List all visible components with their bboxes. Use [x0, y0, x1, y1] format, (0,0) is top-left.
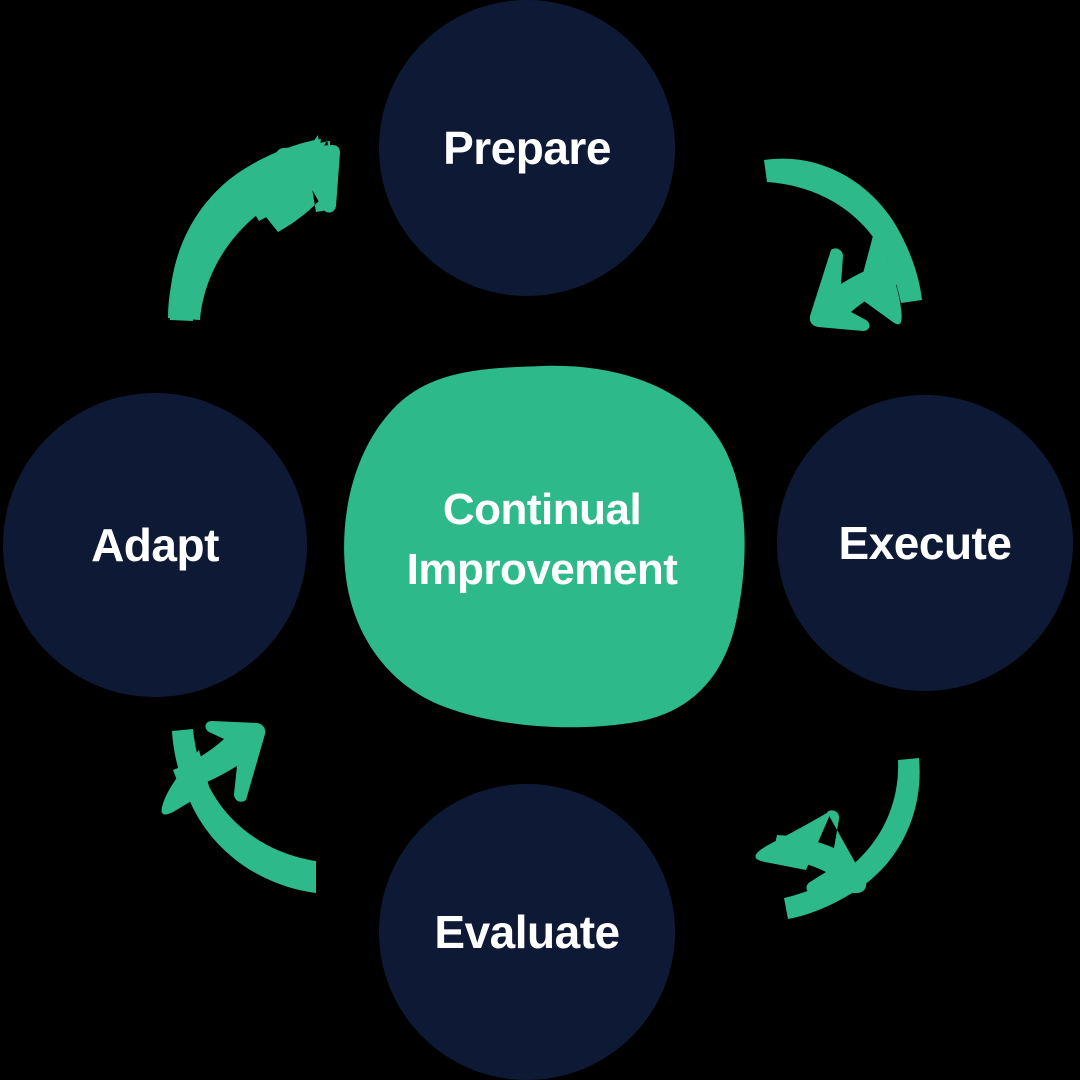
arrow-prepare-to-execute [764, 159, 922, 331]
hub-label-line2: Improvement [407, 545, 679, 594]
hub-label-line1: Continual [443, 485, 641, 534]
cycle-diagram-svg: Continual Improvement Prepare Execute Ev… [0, 0, 1080, 1080]
node-adapt-label: Adapt [91, 519, 219, 571]
arrow-adapt-to-prepare [168, 135, 340, 321]
hub-node[interactable]: Continual Improvement [344, 366, 745, 728]
node-adapt[interactable]: Adapt [3, 393, 307, 697]
node-evaluate-label: Evaluate [434, 906, 619, 958]
node-prepare[interactable]: Prepare [379, 0, 675, 296]
arrow-execute-to-evaluate [755, 758, 919, 919]
node-prepare-label: Prepare [443, 122, 611, 174]
node-evaluate[interactable]: Evaluate [379, 784, 675, 1080]
node-execute-label: Execute [839, 517, 1012, 569]
cycle-diagram-canvas: Continual Improvement Prepare Execute Ev… [0, 0, 1080, 1080]
arrow-evaluate-to-adapt [162, 721, 316, 893]
node-execute[interactable]: Execute [777, 395, 1073, 691]
